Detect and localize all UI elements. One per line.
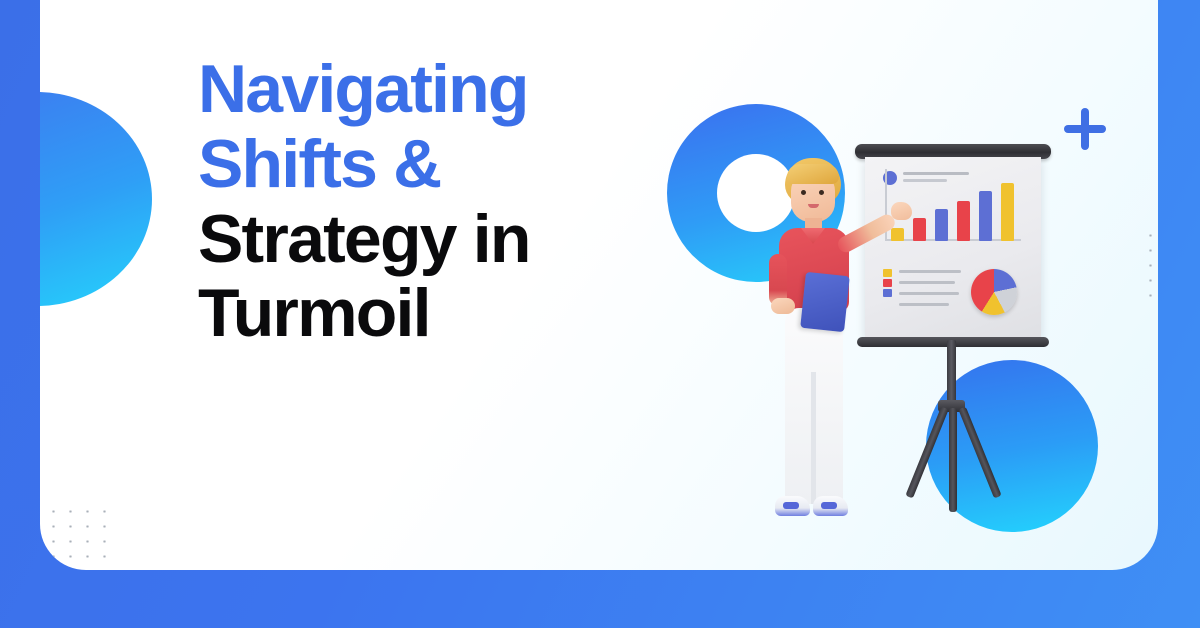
tripod-pole xyxy=(947,340,956,406)
eye-right xyxy=(819,190,824,195)
board-text-line xyxy=(899,292,959,295)
dot-grid-bottom-left xyxy=(43,502,115,564)
board-text-line xyxy=(899,281,955,284)
presenter-figure xyxy=(751,158,901,546)
board-text-line xyxy=(899,270,961,273)
legend-text-line xyxy=(903,172,969,175)
content-card: Navigating Shifts & Strategy in Turmoil xyxy=(40,0,1158,570)
presenter-illustration xyxy=(655,96,1135,546)
shoe-strap-right xyxy=(821,502,837,509)
headline-line-3: Strategy in xyxy=(198,202,638,277)
tripod-leg xyxy=(905,407,948,499)
tripod-leg xyxy=(958,407,1001,499)
hand-left xyxy=(771,298,795,314)
banner-root: Navigating Shifts & Strategy in Turmoil xyxy=(0,0,1200,628)
headline-line-1: Navigating xyxy=(198,52,638,127)
gradient-circle-left xyxy=(40,92,152,306)
board-text-line xyxy=(899,303,949,306)
clipboard xyxy=(800,272,850,332)
bar-6 xyxy=(1001,183,1014,241)
tripod-leg xyxy=(949,408,957,512)
shoe-strap-left xyxy=(783,502,799,509)
eye-left xyxy=(801,190,806,195)
headline-line-2: Shifts & xyxy=(198,127,638,202)
page-title: Navigating Shifts & Strategy in Turmoil xyxy=(198,52,638,351)
hair-fringe xyxy=(787,164,839,184)
bar-4 xyxy=(957,201,970,241)
bar-3 xyxy=(935,209,948,241)
pants-leg-split xyxy=(811,372,816,504)
dot-grid-right xyxy=(1140,226,1158,304)
bar-5 xyxy=(979,191,992,241)
hand-right-pointing xyxy=(891,202,912,220)
headline-line-4: Turmoil xyxy=(198,276,638,351)
bar-2 xyxy=(913,218,926,241)
pie-chart xyxy=(971,269,1017,315)
